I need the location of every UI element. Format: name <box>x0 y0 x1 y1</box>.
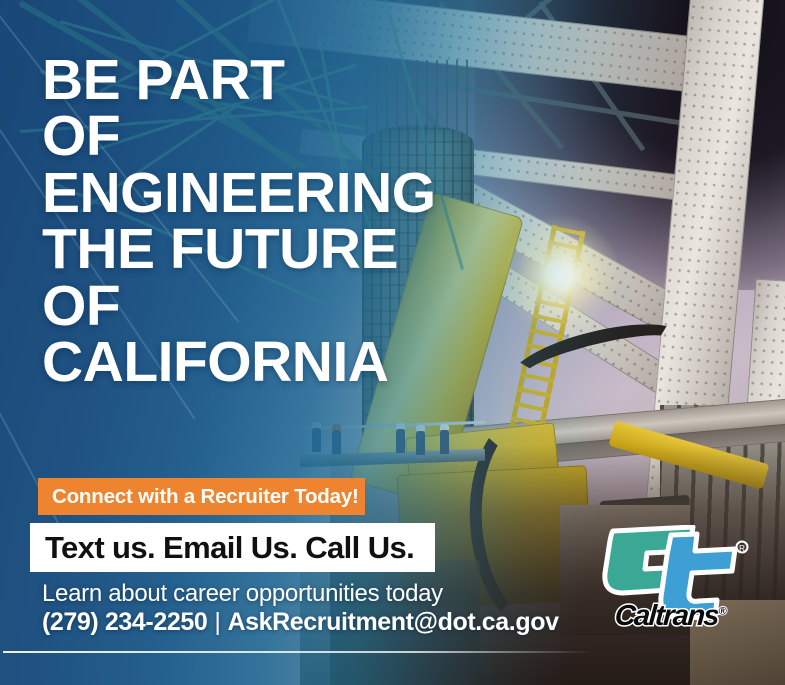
phone-number[interactable]: (279) 234-2250 <box>42 608 207 636</box>
headline-line-2: OF <box>42 108 472 164</box>
learn-more-label: Learn about career opportunities today <box>42 580 443 608</box>
recruitment-ad-banner: BE PART OF ENGINEERING THE FUTURE OF CAL… <box>0 0 785 685</box>
recruiter-cta-label: Connect with a Recruiter Today! <box>38 485 359 509</box>
svg-text:R: R <box>739 544 745 553</box>
recruiter-cta-banner[interactable]: Connect with a Recruiter Today! <box>38 478 365 515</box>
email-address[interactable]: AskRecruitment@dot.ca.gov <box>227 608 558 636</box>
registered-trademark-icon: ® <box>718 605 727 617</box>
contact-separator: | <box>207 608 227 636</box>
headline-line-5: OF <box>42 278 472 334</box>
contact-channels-banner: Text us. Email Us. Call Us. <box>30 523 435 572</box>
headline-line-4: THE FUTURE <box>42 221 472 277</box>
headline-line-3: ENGINEERING <box>42 165 472 221</box>
caltrans-wordmark-text: Caltrans <box>614 600 719 632</box>
headline-line-6: CALIFORNIA <box>42 334 472 390</box>
headline: BE PART OF ENGINEERING THE FUTURE OF CAL… <box>42 52 472 391</box>
bottom-hairline-divider <box>3 651 593 653</box>
contact-channels-label: Text us. Email Us. Call Us. <box>30 530 414 566</box>
caltrans-wordmark: Caltrans® <box>597 600 744 633</box>
contact-line: (279) 234-2250|AskRecruitment@dot.ca.gov <box>42 608 559 637</box>
headline-line-1: BE PART <box>42 52 472 108</box>
